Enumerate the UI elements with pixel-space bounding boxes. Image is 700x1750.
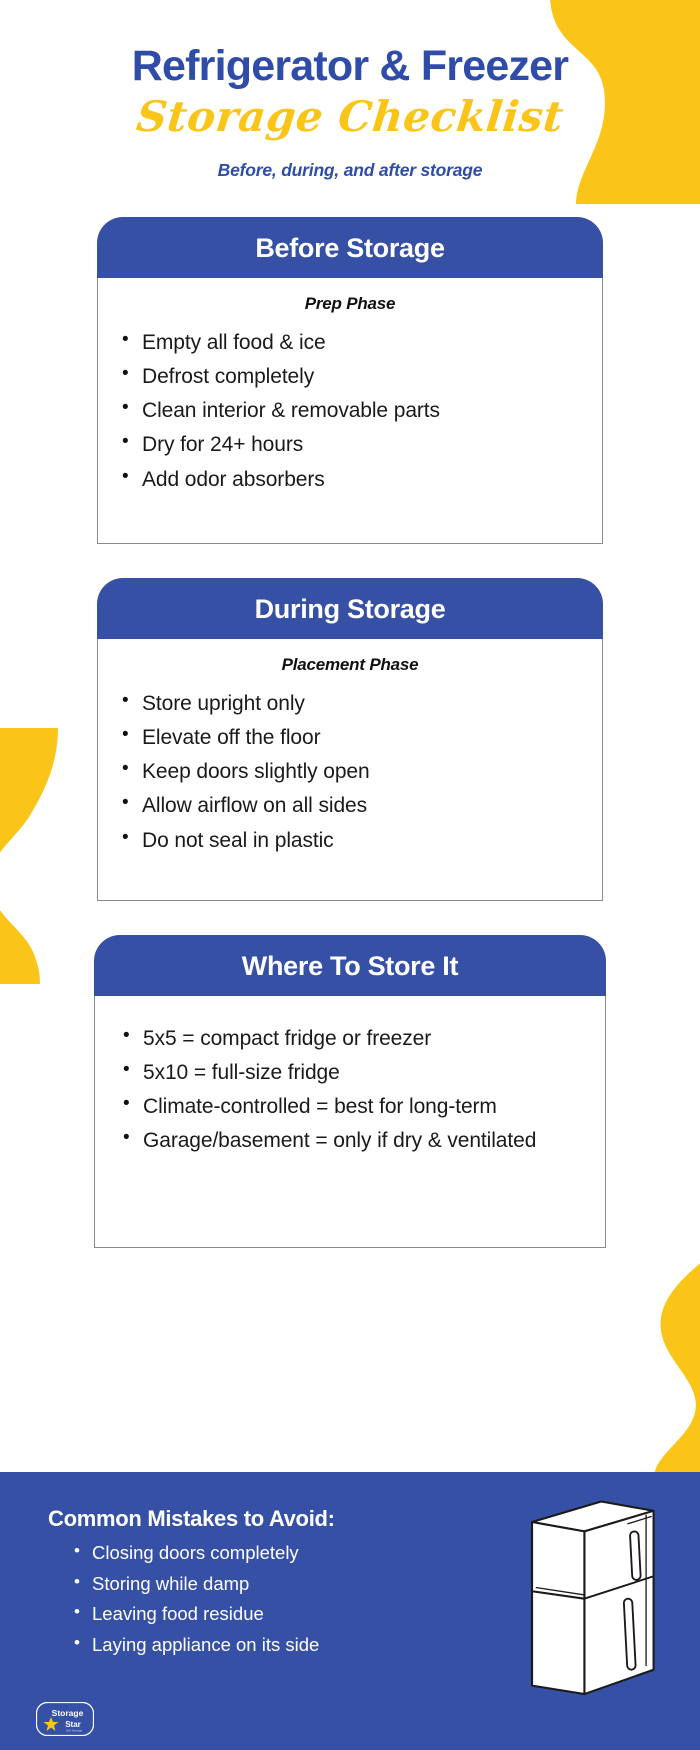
list-item: Do not seal in plastic [116, 824, 584, 858]
footer-title: Common Mistakes to Avoid: [48, 1506, 515, 1532]
list-item: Keep doors slightly open [116, 755, 584, 789]
card-during-storage: During Storage Placement Phase Store upr… [97, 578, 603, 901]
refrigerator-icon [515, 1494, 665, 1709]
list-item: 5x5 = compact fridge or freezer [113, 1022, 587, 1056]
list-item: Allow airflow on all sides [116, 789, 584, 823]
card-body-during-storage: Placement Phase Store upright only Eleva… [97, 639, 603, 901]
card-body-where-to-store: 5x5 = compact fridge or freezer 5x10 = f… [94, 996, 606, 1248]
list-item: Laying appliance on its side [70, 1630, 515, 1661]
card-body-before-storage: Prep Phase Empty all food & ice Defrost … [97, 278, 603, 544]
card-where-to-store: Where To Store It 5x5 = compact fridge o… [94, 935, 606, 1248]
checklist-cards: Before Storage Prep Phase Empty all food… [0, 217, 700, 1248]
infographic-page: Refrigerator & Freezer Storage Checklist… [0, 0, 700, 1750]
checklist-during-storage: Store upright only Elevate off the floor… [116, 687, 584, 858]
list-item: Climate-controlled = best for long-term [113, 1090, 587, 1124]
card-before-storage: Before Storage Prep Phase Empty all food… [97, 217, 603, 544]
list-item: Store upright only [116, 687, 584, 721]
list-item: Leaving food residue [70, 1599, 515, 1630]
list-item: Add odor absorbers [116, 463, 584, 497]
refrigerator-illustration [515, 1472, 700, 1714]
list-item: Storing while damp [70, 1569, 515, 1600]
phase-label-prep: Prep Phase [116, 294, 584, 314]
page-header: Refrigerator & Freezer Storage Checklist… [0, 0, 700, 181]
storage-star-logo[interactable]: Storage Star Self Storage [36, 1702, 94, 1736]
phase-label-placement: Placement Phase [116, 655, 584, 675]
common-mistakes-list: Closing doors completely Storing while d… [48, 1538, 515, 1661]
card-header-before-storage: Before Storage [97, 217, 603, 278]
list-item: Elevate off the floor [116, 721, 584, 755]
page-tagline: Before, during, and after storage [0, 160, 700, 181]
list-item: 5x10 = full-size fridge [113, 1056, 587, 1090]
page-title: Refrigerator & Freezer [0, 44, 700, 90]
list-item: Defrost completely [116, 360, 584, 394]
page-subtitle-script: Storage Checklist [0, 94, 700, 140]
footer-banner: Common Mistakes to Avoid: Closing doors … [0, 1472, 700, 1750]
logo-tagline: Self Storage [66, 1729, 83, 1733]
logo-line2: Star [65, 1720, 81, 1729]
card-header-where-to-store: Where To Store It [94, 935, 606, 996]
footer-content: Common Mistakes to Avoid: Closing doors … [0, 1472, 515, 1661]
list-item: Empty all food & ice [116, 326, 584, 360]
list-item: Dry for 24+ hours [116, 428, 584, 462]
list-item: Closing doors completely [70, 1538, 515, 1569]
list-item: Clean interior & removable parts [116, 394, 584, 428]
card-header-during-storage: During Storage [97, 578, 603, 639]
list-item: Garage/basement = only if dry & ventilat… [113, 1124, 587, 1158]
checklist-before-storage: Empty all food & ice Defrost completely … [116, 326, 584, 497]
checklist-where-to-store: 5x5 = compact fridge or freezer 5x10 = f… [113, 1022, 587, 1159]
logo-line1: Storage [52, 1708, 84, 1718]
